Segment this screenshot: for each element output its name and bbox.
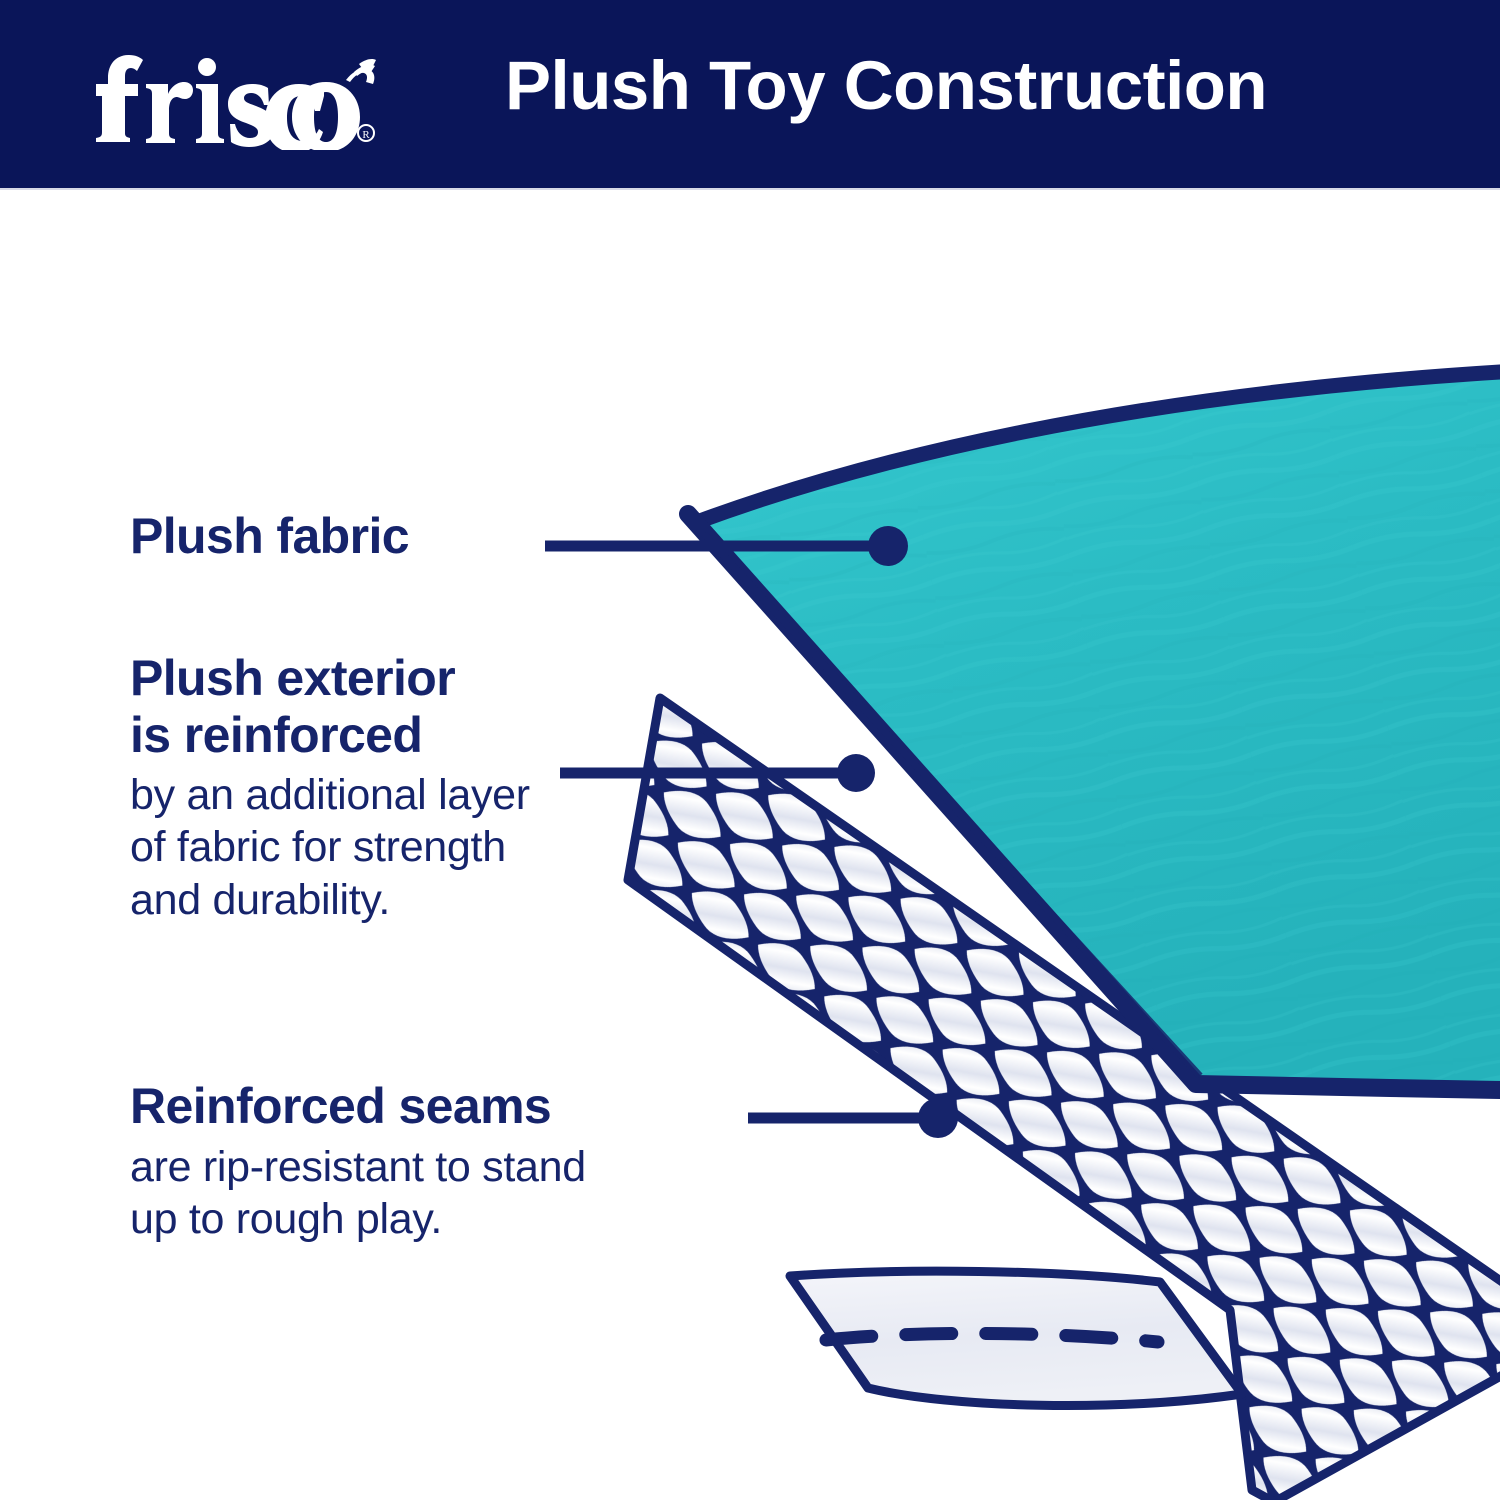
callout-plush-fabric: Plush fabric [130,508,409,565]
seam-flap-layer [790,1271,1242,1405]
callout-heading-line-1: Plush exterior [130,650,530,707]
callout-heading-line-2: is reinforced [130,707,530,764]
callout-body-line-2: of fabric for strength [130,821,530,873]
callout-body: by an additional layer of fabric for str… [130,769,530,926]
callout-plush-exterior: Plush exterior is reinforced by an addit… [130,650,530,926]
svg-text:R: R [362,129,370,141]
registered-trademark-icon: R [358,125,374,141]
callout-body-line-1: by an additional layer [130,769,530,821]
callout-heading: Plush fabric [130,508,409,565]
callout-heading: Reinforced seams [130,1078,586,1135]
callout-body: are rip-resistant to stand up to rough p… [130,1141,586,1246]
callout-body-line-1: are rip-resistant to stand [130,1141,586,1193]
frisco-wordmark-logo: R [78,40,378,150]
page-title: Plush Toy Construction [505,46,1267,125]
callout-body-line-3: and durability. [130,874,530,926]
leader-line-reinforced-seams [748,1098,958,1138]
header-bar: R Plush Toy Construction [0,0,1500,190]
callout-reinforced-seams: Reinforced seams are rip-resistant to st… [130,1078,586,1245]
callout-body-line-2: up to rough play. [130,1193,586,1245]
